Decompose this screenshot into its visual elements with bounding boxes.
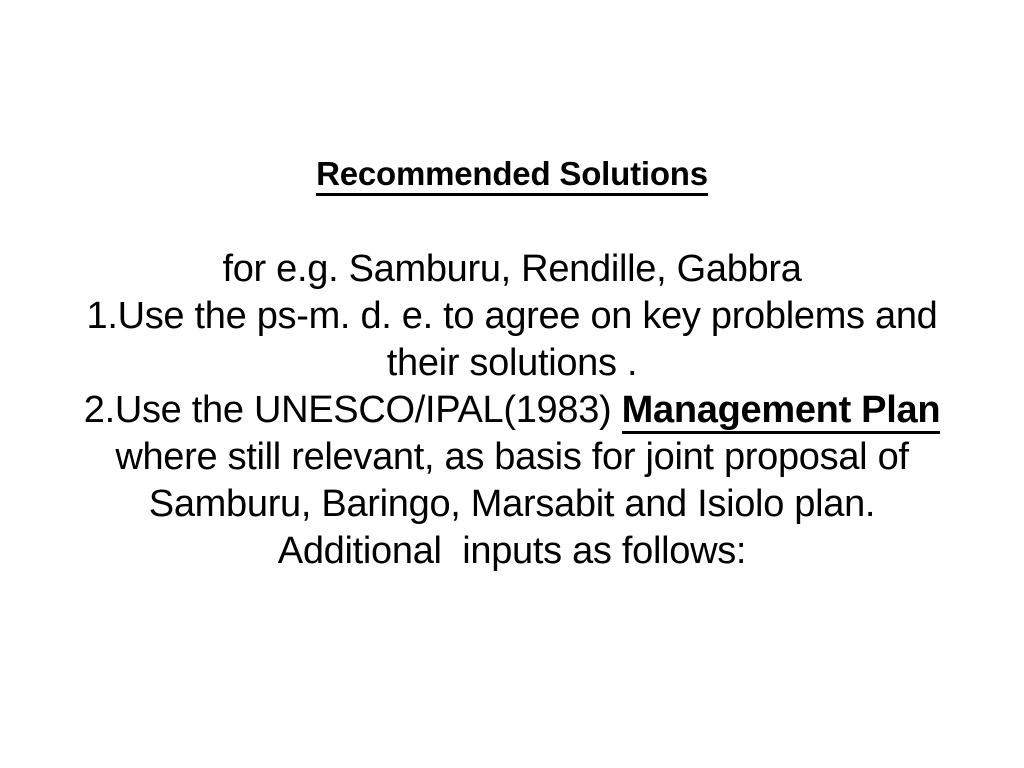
body-line-additional-inputs: Additional inputs as follows:: [0, 528, 1024, 575]
slide-title-text: Recommended Solutions: [316, 157, 708, 196]
body-line-item-1: 1.Use the ps-m. d. e. to agree on key pr…: [0, 293, 1024, 340]
body-line-counties: Samburu, Baringo, Marsabit and Isiolo pl…: [0, 481, 1024, 528]
body-line-item-2: 2.Use the UNESCO/IPAL(1983) Management P…: [0, 387, 1024, 434]
body-line-item-2-prefix: 2.Use the UNESCO/IPAL(1983): [84, 389, 622, 431]
body-line-where-still-relevant: where still relevant, as basis for joint…: [0, 434, 1024, 481]
slide-text-block: Recommended Solutions for e.g. Samburu, …: [0, 150, 1024, 575]
blank-spacer-line: [0, 199, 1024, 246]
body-line-their-solutions: their solutions .: [0, 340, 1024, 387]
body-line-for-eg: for e.g. Samburu, Rendille, Gabbra: [0, 246, 1024, 293]
slide-title: Recommended Solutions: [0, 150, 1024, 197]
slide-canvas: Recommended Solutions for e.g. Samburu, …: [0, 0, 1024, 768]
management-plan-emphasis: Management Plan: [622, 389, 941, 434]
